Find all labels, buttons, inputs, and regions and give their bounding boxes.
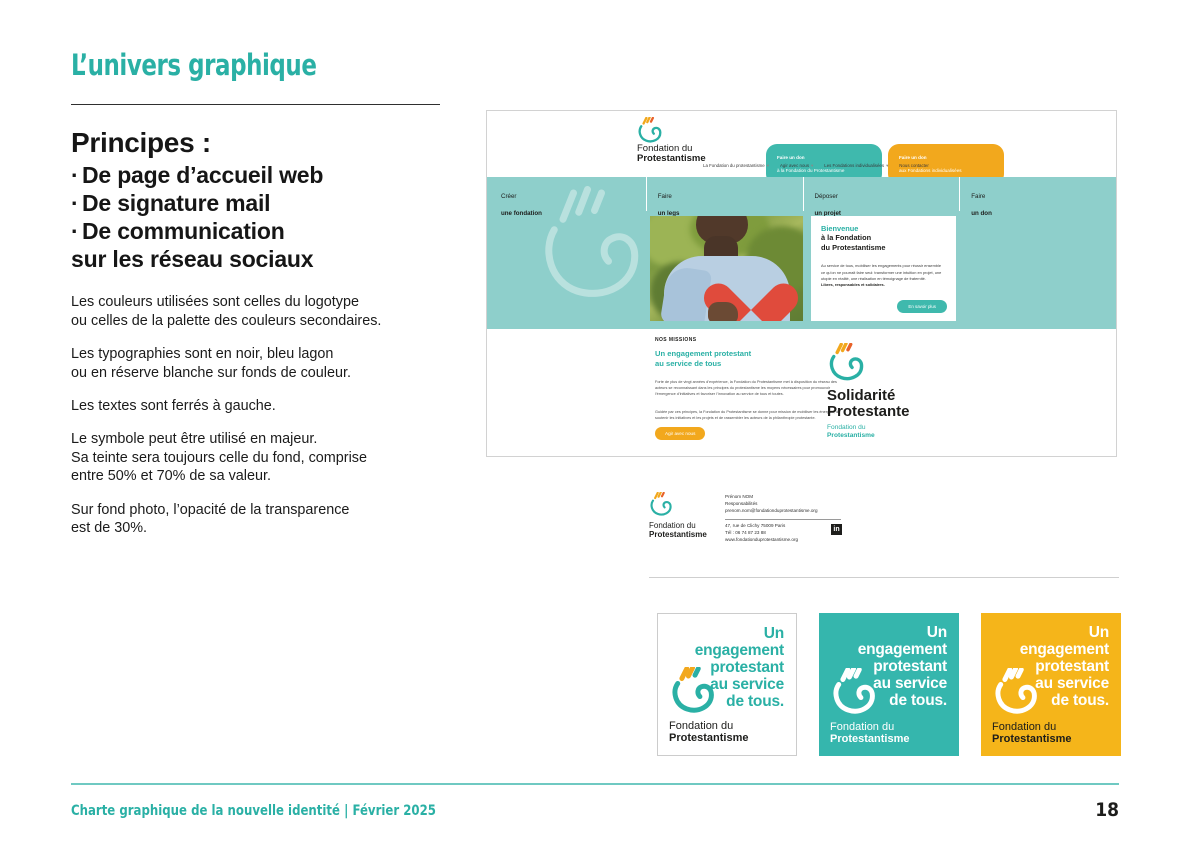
principles-item-label: De page d’accueil web <box>82 162 323 188</box>
tab-line-1: Faire <box>971 193 1116 201</box>
section-divider <box>649 577 1119 578</box>
nav-item-agir[interactable]: Agir avec nous▾ <box>780 163 813 169</box>
principles-heading: Principes : <box>71 127 443 159</box>
mockup-missions-section: NOS MISSIONS Un engagement protestant au… <box>487 329 1116 343</box>
hero-body-text: Au service de tous, mobiliser les engage… <box>821 263 941 280</box>
brand-card-teal: Un engagement protestant au service de t… <box>819 613 959 756</box>
paragraph-alignment: Les textes sont ferrés à gauche. <box>71 397 443 415</box>
hero-tab-faire-don[interactable]: Faire un don <box>959 177 1116 211</box>
chevron-down-icon: ▾ <box>811 163 813 168</box>
website-homepage-mockup: Fondation du Protestantisme Faire un don… <box>486 110 1117 457</box>
missions-action-button[interactable]: Agir avec nous <box>655 427 705 440</box>
nav-label: Les Fondations individualisées <box>824 163 884 168</box>
footer-divider <box>71 783 1119 785</box>
principles-item-label: De signature mail <box>82 190 270 216</box>
mockup-header: Fondation du Protestantisme Faire un don… <box>487 111 1116 177</box>
brand-card-wordmark: Fondation du Protestantisme <box>992 721 1092 745</box>
signature-name: Prénom NOM <box>725 494 841 501</box>
hero-title-line-1: Bienvenue <box>821 224 946 233</box>
bullet-icon: · <box>71 161 82 189</box>
hand-logo-icon <box>827 343 869 381</box>
hero-tab-deposer-projet[interactable]: Déposer un projet <box>803 177 960 211</box>
hand-logo-icon <box>637 117 665 143</box>
email-signature-example: Fondation du Protestantisme Prénom NOM R… <box>649 492 849 544</box>
hero-body-strong: Libres, responsables et solidaires. <box>821 282 885 287</box>
principles-list-item: ·De page d’accueil web <box>71 161 443 189</box>
page-canvas: L’univers graphique Principes : ·De page… <box>0 0 1190 841</box>
principles-list-item: ·De signature mail <box>71 189 443 217</box>
solidarite-line-1: Solidarité <box>827 388 937 404</box>
sublogo-line-1: Fondation du <box>827 424 937 432</box>
signature-email: prenom.nom@fondationduprotestantisme.org <box>725 508 841 515</box>
paragraph-symbol: Le symbole peut être utilisé en majeur. … <box>71 430 443 485</box>
brand-card-wordmark: Fondation du Protestantisme <box>830 721 930 745</box>
brand-card-logo: Fondation du Protestantisme <box>992 668 1092 745</box>
right-showcase-column: Fondation du Protestantisme Faire un don… <box>486 110 1119 457</box>
tab-line-2: un don <box>971 210 1116 218</box>
signature-details: Prénom NOM Responsabilités prenom.nom@fo… <box>725 494 841 544</box>
page-number: 18 <box>1095 799 1119 821</box>
footer-caption: Charte graphique de la nouvelle identité… <box>71 803 436 819</box>
principles-block: Principes : ·De page d’accueil web ·De s… <box>71 127 443 273</box>
brand-logo-line-2: Protestantisme <box>830 733 930 745</box>
hero-card-body: Au service de tous, mobiliser les engage… <box>821 257 946 287</box>
hero-quicklinks: Créer une fondation Faire un legs Dépose… <box>487 177 1116 211</box>
tab-line-1: Déposer <box>815 193 960 201</box>
brand-logo-line-2: Protestantisme <box>992 733 1092 745</box>
hero-title-line-3: du Protestantisme <box>821 243 946 252</box>
brand-logo-line-2: Protestantisme <box>669 732 769 744</box>
nav-label: Agir avec nous <box>780 163 809 168</box>
nav-item-contact[interactable]: Nous contacter <box>899 163 929 169</box>
hero-learn-more-button[interactable]: En savoir plus <box>897 300 947 313</box>
principles-list-item: ·De communication sur les réseau sociaux <box>71 217 443 273</box>
hero-card-title: Bienvenue à la Fondation du Protestantis… <box>821 224 946 252</box>
hand-logo-icon <box>649 492 675 516</box>
paragraph-photo-opacity: Sur fond photo, l’opacité de la transpar… <box>71 501 443 538</box>
hero-tab-faire-legs[interactable]: Faire un legs <box>646 177 803 211</box>
bullet-icon: · <box>71 217 82 245</box>
signature-wordmark: Fondation du Protestantisme <box>649 522 723 540</box>
brand-logo-line-1: Fondation du <box>669 720 769 732</box>
solidarite-name: Solidarité Protestante <box>827 388 937 420</box>
brand-logo-line-1: Fondation du <box>830 721 930 733</box>
tab-line-1: Créer <box>501 193 646 201</box>
solidarite-protestante-logo: Solidarité Protestante Fondation du Prot… <box>827 343 937 439</box>
person-hand <box>708 302 738 321</box>
missions-paragraph-2: Guidée par ces principes, la Fondation d… <box>655 409 845 421</box>
sublogo-line-2: Protestantisme <box>827 432 937 440</box>
paragraph-typography: Les typographies sont en noir, bleu lago… <box>71 345 443 382</box>
nav-item-fondation[interactable]: La Fondation du protestantisme▾ <box>703 163 769 169</box>
brand-logo-line-1: Fondation du <box>992 721 1092 733</box>
missions-paragraph-1: Forte de plus de vingt années d’expérien… <box>655 379 845 397</box>
nav-label: Nous contacter <box>899 163 929 168</box>
missions-title: Un engagement protestant au service de t… <box>655 349 751 369</box>
principles-list: ·De page d’accueil web ·De signature mai… <box>71 161 443 273</box>
hand-logo-icon <box>669 667 721 713</box>
brand-card-wordmark: Fondation du Protestantisme <box>669 720 769 744</box>
brand-card-logo: Fondation du Protestantisme <box>830 668 930 745</box>
brand-card-yellow: Un engagement protestant au service de t… <box>981 613 1121 756</box>
mockup-logo: Fondation du Protestantisme <box>637 117 723 165</box>
paragraph-colors: Les couleurs utilisées sont celles du lo… <box>71 293 443 330</box>
signature-phone: Tél : 06 74 87 23 88 <box>725 530 841 537</box>
tab-line-1: Faire <box>658 193 803 201</box>
hero-title-line-2: à la Fondation <box>821 233 946 242</box>
hand-logo-icon <box>992 668 1044 714</box>
brand-cards-row: Un engagement protestant au service de t… <box>657 613 1121 756</box>
brand-card-white: Un engagement protestant au service de t… <box>657 613 797 756</box>
missions-kicker: NOS MISSIONS <box>655 337 696 343</box>
hero-tab-creer-fondation[interactable]: Créer une fondation <box>487 177 646 211</box>
left-content-column: L’univers graphique Principes : ·De page… <box>71 48 443 538</box>
page-title: L’univers graphique <box>71 48 398 82</box>
cta-line-1: Faire un don <box>777 155 871 162</box>
chevron-down-icon: ▾ <box>767 163 769 168</box>
principles-item-label: De communication sur les réseau sociaux <box>71 218 313 272</box>
signature-contact-block: 47, rue de Clichy 75009 Paris Tél : 06 7… <box>725 519 841 544</box>
signature-role: Responsabilités <box>725 501 841 508</box>
nav-item-individualisees[interactable]: Les Fondations individualisées▾ <box>824 163 888 169</box>
bullet-icon: · <box>71 189 82 217</box>
signature-logo-line-2: Protestantisme <box>649 531 723 540</box>
chevron-down-icon: ▾ <box>886 163 888 168</box>
hand-logo-icon <box>830 668 882 714</box>
missions-body: Forte de plus de vingt années d’expérien… <box>655 373 845 432</box>
description-paragraphs: Les couleurs utilisées sont celles du lo… <box>71 293 443 537</box>
mockup-hero-band: Créer une fondation Faire un legs Dépose… <box>487 177 1116 329</box>
cta-line-1: Faire un don <box>899 155 993 162</box>
hero-photo <box>650 216 803 321</box>
signature-website: www.fondationduprotestantisme.org <box>725 537 841 544</box>
solidarite-sublogo: Fondation du Protestantisme <box>827 424 937 440</box>
brand-card-logo: Fondation du Protestantisme <box>669 667 769 744</box>
nav-label: La Fondation du protestantisme <box>703 163 765 168</box>
mockup-main-nav: La Fondation du protestantisme▾ Agir ave… <box>703 163 929 169</box>
title-divider <box>71 104 440 105</box>
solidarite-line-2: Protestante <box>827 404 937 420</box>
linkedin-icon[interactable]: in <box>831 524 842 535</box>
tab-line-2: une fondation <box>501 210 646 218</box>
mockup-logo-wordmark: Fondation du Protestantisme <box>637 144 723 165</box>
hero-welcome-card: Bienvenue à la Fondation du Protestantis… <box>811 216 956 321</box>
signature-address: 47, rue de Clichy 75009 Paris <box>725 523 841 530</box>
signature-logo: Fondation du Protestantisme <box>649 492 723 540</box>
